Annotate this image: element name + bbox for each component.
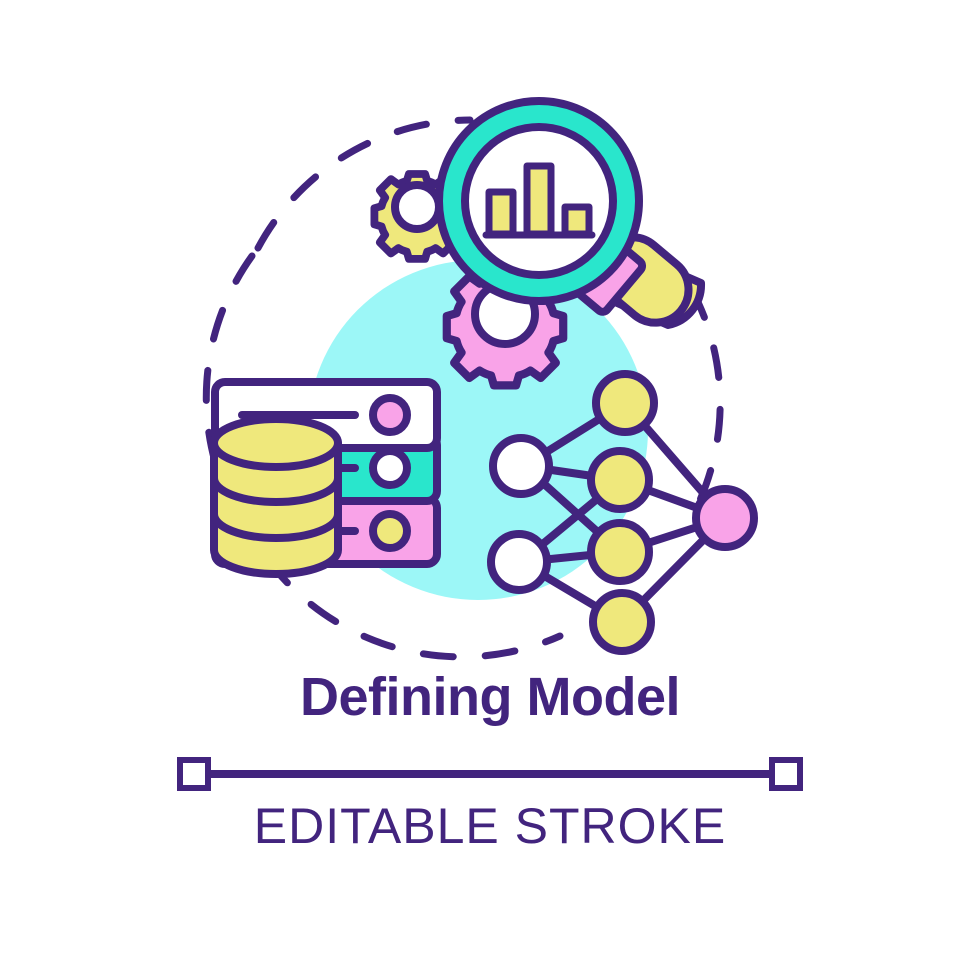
editable-stroke-label: EDITABLE STROKE xyxy=(0,797,980,855)
concept-icon-canvas: Defining Model EDITABLE STROKE xyxy=(0,0,980,980)
page-title: Defining Model xyxy=(0,666,980,728)
stroke-width-indicator xyxy=(0,752,980,796)
database-icon xyxy=(214,419,338,574)
neural-network-output-node xyxy=(696,489,754,547)
magnifying-glass-icon xyxy=(439,101,639,301)
